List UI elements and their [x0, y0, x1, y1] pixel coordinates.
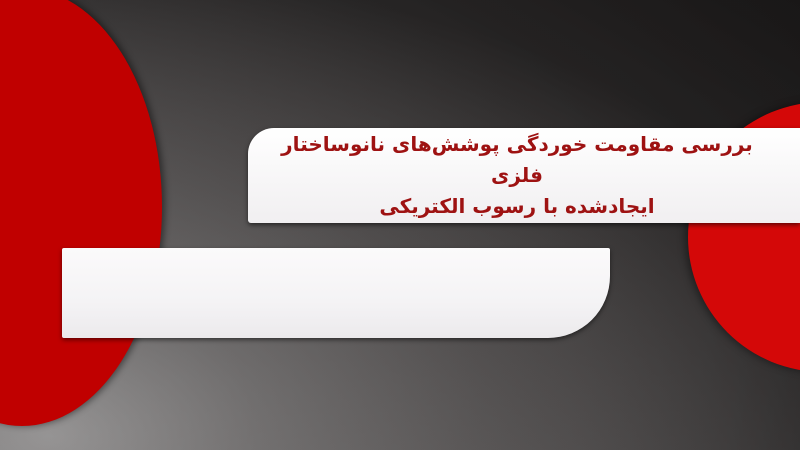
- slide-canvas: بررسی مقاومت خوردگی پوشش‌های نانوساختار …: [0, 0, 800, 450]
- subtitle-plate: [62, 248, 610, 338]
- page-title: بررسی مقاومت خوردگی پوشش‌های نانوساختار …: [266, 129, 774, 222]
- title-plate: بررسی مقاومت خوردگی پوشش‌های نانوساختار …: [248, 128, 800, 223]
